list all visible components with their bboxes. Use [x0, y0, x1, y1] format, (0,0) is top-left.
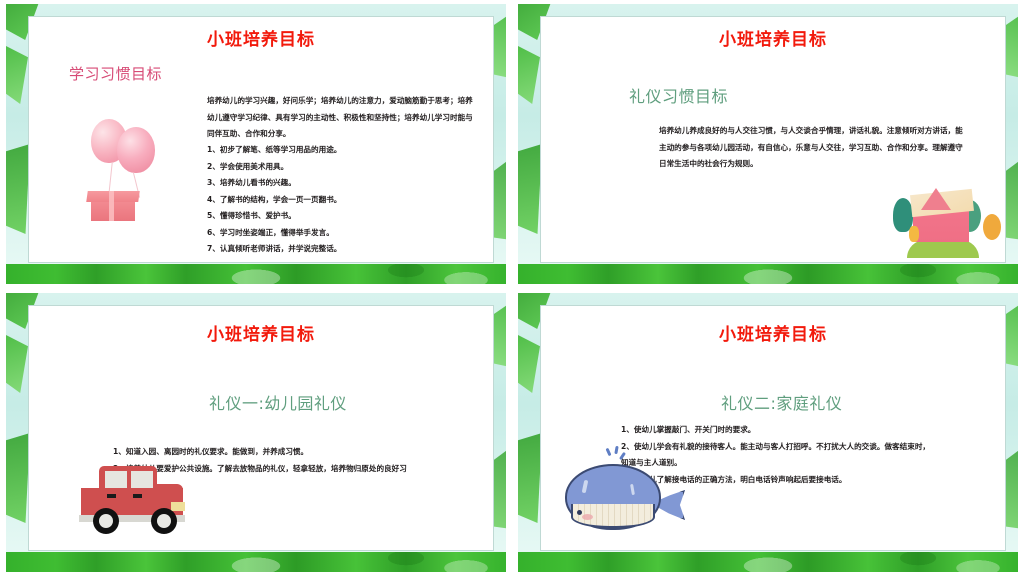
car-door-handle — [107, 494, 116, 498]
leaf-icon — [518, 144, 542, 234]
leaf-icon — [518, 44, 540, 104]
paragraph-text: 培养幼儿养成良好的与人交往习惯，与人交谈合乎情理，讲话礼貌。注意倾听对方讲话，能… — [659, 123, 969, 173]
whale-eye — [577, 510, 582, 515]
blue-whale-illustration — [563, 446, 693, 538]
paragraph-text: 培养幼儿的学习兴趣，好问乐学；培养幼儿的注意力，爱动脑筋勤于思考；培养幼儿遵守学… — [207, 93, 475, 143]
green-leaf-band — [6, 264, 506, 284]
car-wheel — [93, 508, 119, 534]
gift-ribbon — [109, 191, 114, 221]
slide-thumbnail-2[interactable]: 小班培养目标 礼仪习惯目标 培养幼儿养成良好的与人交往习惯，与人交谈合乎情理，讲… — [512, 0, 1024, 289]
slide-content-card: 小班培养目标 学习习惯目标 培养幼儿的学习兴趣，好问乐学；培养幼儿的注意力，爱动… — [28, 16, 494, 263]
list-item: 2、学会使用美术用具。 — [207, 159, 341, 176]
list-item: 1、使幼儿掌握敲门、开关门时的要求。 — [621, 422, 933, 439]
slide-title: 小班培养目标 — [541, 25, 1005, 50]
tree-icon — [983, 214, 1001, 240]
village-house-trees-illustration — [887, 186, 1005, 256]
leaf-icon — [6, 333, 28, 393]
car-headlight — [171, 502, 185, 511]
flower-icon — [909, 226, 919, 242]
slide-content-card: 小班培养目标 礼仪习惯目标 培养幼儿养成良好的与人交往习惯，与人交谈合乎情理，讲… — [540, 16, 1006, 263]
car-window — [105, 471, 127, 488]
hill-shape — [907, 240, 979, 258]
slide-content-card: 小班培养目标 礼仪一:幼儿园礼仪 1、知道入园、离园时的礼仪要求。能做到，并养成… — [28, 305, 494, 551]
water-spout — [619, 452, 626, 460]
balloon-icon — [117, 127, 155, 173]
body-list: 1、初步了解笔、纸等学习用品的用途。 2、学会使用美术用具。 3、培养幼儿看书的… — [207, 142, 341, 258]
body-paragraph: 培养幼儿养成良好的与人交往习惯，与人交谈合乎情理，讲话礼貌。注意倾听对方讲话，能… — [659, 123, 969, 173]
whale-blush — [582, 514, 593, 520]
section-heading: 礼仪一:幼儿园礼仪 — [209, 390, 347, 414]
green-leaf-band — [6, 552, 506, 572]
list-item: 7、认真倾听老师讲话，并学说完整话。 — [207, 241, 341, 258]
water-spout — [606, 448, 612, 457]
slide-title: 小班培养目标 — [29, 320, 493, 345]
list-item: 4、了解书的结构，学会一页一页翻书。 — [207, 192, 341, 209]
car-window — [131, 471, 153, 488]
leaf-icon — [6, 44, 28, 104]
slide-title: 小班培养目标 — [29, 25, 493, 50]
slide-title: 小班培养目标 — [541, 320, 1005, 345]
slide-thumbnail-4[interactable]: 小班培养目标 礼仪二:家庭礼仪 1、使幼儿掌握敲门、开关门时的要求。 2、使幼儿… — [512, 289, 1024, 577]
list-item: 1、初步了解笔、纸等学习用品的用途。 — [207, 142, 341, 159]
list-item: 3、培养幼儿看书的兴趣。 — [207, 175, 341, 192]
leaf-icon — [518, 333, 540, 393]
section-heading: 学习习惯目标 — [69, 63, 162, 84]
green-leaf-band — [518, 552, 1018, 572]
leaf-icon — [6, 144, 30, 234]
red-car-illustration — [75, 458, 193, 536]
slide-content-card: 小班培养目标 礼仪二:家庭礼仪 1、使幼儿掌握敲门、开关门时的要求。 2、使幼儿… — [540, 305, 1006, 551]
leaf-icon — [6, 433, 30, 523]
slide-thumbnail-1[interactable]: 小班培养目标 学习习惯目标 培养幼儿的学习兴趣，好问乐学；培养幼儿的注意力，爱动… — [0, 0, 512, 289]
slide-thumbnail-3[interactable]: 小班培养目标 礼仪一:幼儿园礼仪 1、知道入园、离园时的礼仪要求。能做到，并养成… — [0, 289, 512, 577]
car-door-handle — [133, 494, 142, 498]
leaf-icon — [518, 433, 542, 523]
slide-grid: 小班培养目标 学习习惯目标 培养幼儿的学习兴趣，好问乐学；培养幼儿的注意力，爱动… — [0, 0, 1024, 577]
section-heading: 礼仪二:家庭礼仪 — [721, 390, 842, 414]
list-item: 6、学习时坐姿端正，懂得举手发言。 — [207, 225, 341, 242]
gift-box-icon — [87, 191, 139, 221]
car-wheel — [151, 508, 177, 534]
water-spout — [614, 446, 618, 454]
body-paragraph: 培养幼儿的学习兴趣，好问乐学；培养幼儿的注意力，爱动脑筋勤于思考；培养幼儿遵守学… — [207, 93, 475, 143]
list-item: 5、懂得珍惜书、爱护书。 — [207, 208, 341, 225]
balloons-and-gift-illustration — [81, 117, 177, 222]
green-leaf-band — [518, 264, 1018, 284]
section-heading: 礼仪习惯目标 — [629, 83, 728, 107]
